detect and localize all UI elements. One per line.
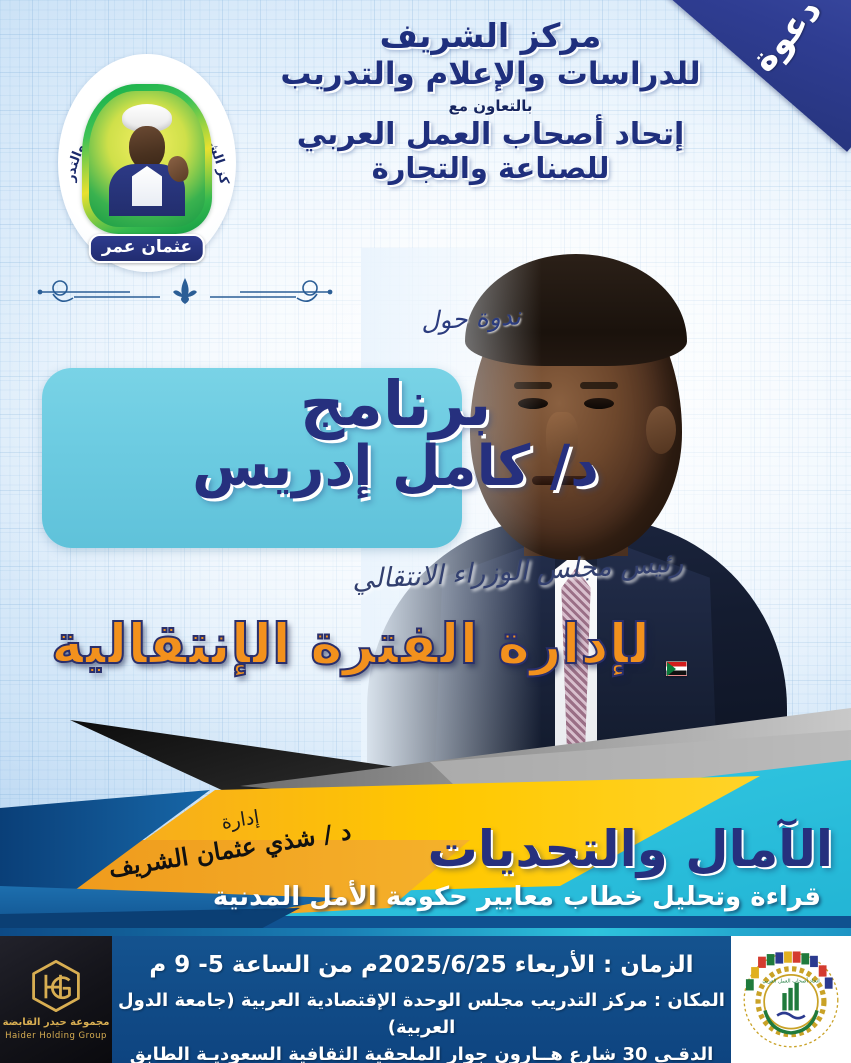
footer-place: المكان : مركز التدريب مجلس الوحدة الإقتص… bbox=[112, 987, 731, 1041]
title-lines: برنامج د/ كامل إدريس bbox=[0, 372, 791, 497]
org-line-1: مركز الشريف bbox=[238, 18, 743, 55]
center-logo: مركز الشريف للدراسات والاعلام والتدريب ع… bbox=[58, 54, 236, 272]
footer-top-strip bbox=[0, 928, 851, 936]
theme-subtitle: قراءة وتحليل خطاب معايير حكومة الأمل الم… bbox=[213, 882, 821, 912]
union-emblem: اتحاد أصحاب العمل العربي bbox=[731, 936, 851, 1063]
logo-name-plate: عثمان عمر bbox=[89, 234, 205, 263]
footer-info: الزمان : الأربعاء 2025/6/25م من الساعة 5… bbox=[112, 936, 731, 1063]
seminar-kicker: ندوة حول bbox=[421, 301, 522, 335]
partner-line-2: للصناعة والتجارة bbox=[238, 152, 743, 185]
logo-portrait-icon bbox=[108, 104, 186, 212]
program-word: برنامج bbox=[0, 372, 791, 436]
poster-root: دعوة مركز الشريف للدراسات والاعلام والتد… bbox=[0, 0, 851, 1063]
logo-shield bbox=[82, 84, 212, 234]
footer-time: الزمان : الأربعاء 2025/6/25م من الساعة 5… bbox=[112, 948, 731, 983]
seminar-headline: لإدارة الفترة الإنتقالية bbox=[0, 612, 701, 676]
hg-monogram-icon bbox=[28, 958, 84, 1014]
header-block: مركز الشريف للدراسات والإعلام والتدريب ب… bbox=[238, 18, 743, 185]
union-emblem-label: اتحاد أصحاب العمل العربي bbox=[762, 976, 819, 984]
union-emblem-icon: اتحاد أصحاب العمل العربي bbox=[739, 948, 843, 1052]
ornament-divider-icon bbox=[26, 272, 344, 306]
sponsor-logo: مجموعة حيدر القابضة Haider Holding Group bbox=[0, 936, 112, 1063]
speaker-name: د/ كامل إدريس bbox=[0, 438, 791, 497]
cooperation-label: بالتعاون مع bbox=[238, 97, 743, 115]
sponsor-name-en: Haider Holding Group bbox=[5, 1031, 107, 1041]
partner-line-1: إتحاد أصحاب العمل العربي bbox=[238, 118, 743, 152]
logo-shield-inner bbox=[89, 91, 205, 227]
footer-address: الدقـي 30 شارع هــارون جوار الملحقية الث… bbox=[112, 1041, 731, 1063]
partner-block: إتحاد أصحاب العمل العربي للصناعة والتجار… bbox=[238, 118, 743, 185]
org-line-2: للدراسات والإعلام والتدريب bbox=[238, 57, 743, 92]
footer-bar: الزمان : الأربعاء 2025/6/25م من الساعة 5… bbox=[0, 936, 851, 1063]
theme-title: الآمال والتحديات bbox=[428, 820, 833, 878]
sponsor-name-ar: مجموعة حيدر القابضة bbox=[3, 1017, 110, 1028]
